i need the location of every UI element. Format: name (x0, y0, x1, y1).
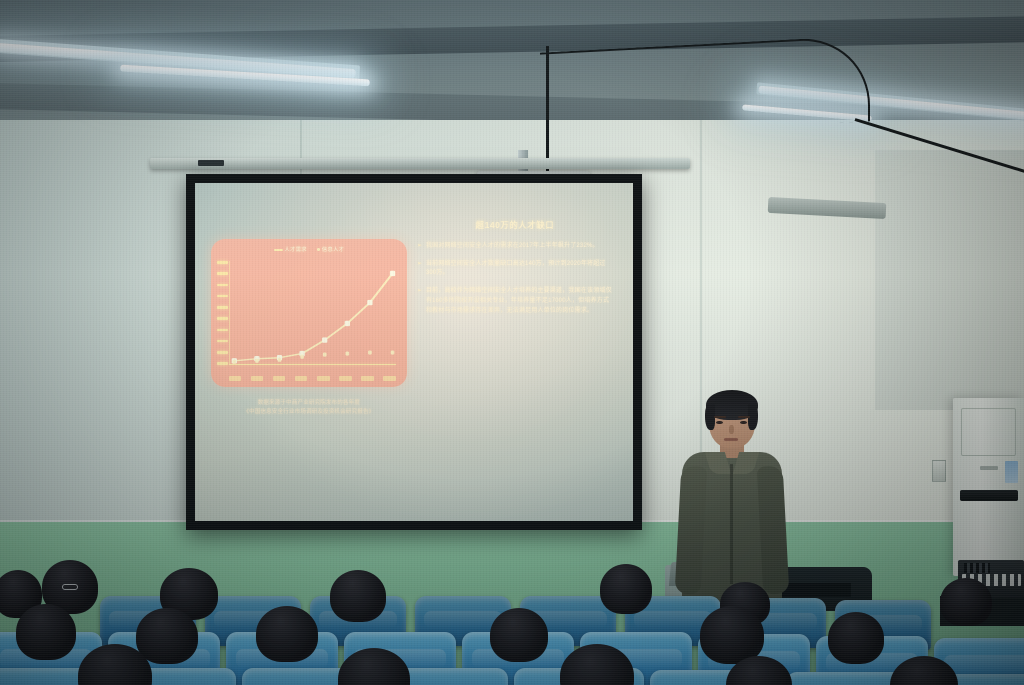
floor-air-conditioner (953, 398, 1024, 576)
slide-text-column: 超140万的人才缺口 ➢ 我国对网络空间安全人才的需求在2017年上半年飙升了2… (407, 205, 619, 511)
chart-x-tick-label: 2015 (317, 376, 330, 381)
screen-bar-label (198, 160, 224, 166)
legend-swatch-dot-icon (317, 248, 320, 251)
chart-x-tick-label: 2013 (273, 376, 286, 381)
bullet-arrow-icon: ➢ (417, 287, 422, 316)
legend-item-demand: 人才需求 (274, 246, 307, 253)
chart-x-tick-label: 2018 (383, 376, 396, 381)
chart-series-canvas (231, 261, 396, 365)
chart-x-tick-label: 2016 (339, 376, 352, 381)
y-axis-tick (217, 306, 228, 309)
y-axis-tick (217, 261, 228, 264)
presentation-slide: 人才需求 信息人才 (195, 183, 633, 521)
side-wall-panel (875, 150, 1024, 410)
chart-x-tick-label: 2017 (361, 376, 374, 381)
audience (0, 556, 1024, 685)
lecture-hall-photo: 人才需求 信息人才 (0, 0, 1024, 685)
projection-screen: 人才需求 信息人才 (186, 174, 642, 530)
audience-head (136, 608, 198, 664)
chart-caption-line-2: 《中国信息安全行业市场调研及投资机会研究报告》 (243, 408, 374, 417)
screen-roller-bar (150, 158, 690, 169)
bullet-arrow-icon: ➢ (417, 242, 422, 252)
y-axis-tick (217, 340, 228, 343)
y-axis-tick (217, 362, 228, 365)
ac-brand-logo (980, 466, 998, 470)
ac-front-panel (961, 408, 1016, 456)
y-axis-tick (217, 284, 228, 287)
projection-screen-surface: 人才需求 信息人才 (195, 183, 633, 521)
slide-bullet-text: 目前，高校作为网络空间安全人才培养的主要渠道，我国在该领域仅有160多所院校开设… (426, 287, 613, 316)
audience-head (490, 608, 548, 662)
chart-line-demand (234, 273, 392, 360)
ceiling-cable (540, 35, 870, 138)
chart-x-tick-label: 2012 (251, 376, 264, 381)
slide-bullet: ➢ 我国对网络空间安全人才的需求在2017年上半年飙升了232%。 (417, 242, 613, 252)
presenter-nose (729, 425, 734, 434)
wall-control-box (932, 460, 946, 482)
legend-label-demand: 人才需求 (285, 246, 307, 253)
y-axis-tick (217, 329, 228, 332)
audience-head (828, 612, 884, 664)
bullet-arrow-icon: ➢ (417, 260, 422, 279)
line-chart: 人才需求 信息人才 (211, 239, 407, 387)
chart-x-tick-label: 2014 (295, 376, 308, 381)
ac-vent-grille (960, 490, 1018, 501)
slide-chart-column: 人才需求 信息人才 (211, 205, 407, 511)
chart-legend: 人才需求 信息人才 (211, 246, 407, 253)
chart-x-tick-label: 2011 (229, 376, 241, 381)
slide-bullet-text: 当前网络空间安全人才数量缺口高达140万，预计到2020年将超过300万。 (426, 260, 613, 279)
slide-bullet: ➢ 当前网络空间安全人才数量缺口高达140万，预计到2020年将超过300万。 (417, 260, 613, 279)
slide-title: 超140万的人才缺口 (417, 219, 613, 231)
chart-x-axis-labels: 20112012201320142015201620172018 (229, 376, 396, 381)
audience-glasses (62, 584, 78, 590)
presenter-mouth (724, 438, 738, 441)
chart-source-caption: 数据来源于中商产业研究院发布的各年度 《中国信息安全行业市场调研及投资机会研究报… (243, 399, 374, 417)
audience-head (600, 564, 652, 614)
chart-plot-area: 20112012201320142015201620172018 (231, 261, 396, 365)
audience-head (940, 578, 992, 626)
slide-bullet-text: 我国对网络空间安全人才的需求在2017年上半年飙升了232%。 (426, 242, 599, 252)
chart-markers-demand (232, 271, 396, 364)
chart-caption-line-1: 数据来源于中商产业研究院发布的各年度 (243, 399, 374, 408)
legend-item-supply: 信息人才 (317, 246, 344, 253)
y-axis-tick (217, 272, 228, 275)
audience-head (330, 570, 386, 622)
audience-head (256, 606, 318, 662)
y-axis-tick (217, 317, 228, 320)
ac-display-badge (1005, 461, 1018, 483)
y-axis-tick (217, 351, 228, 354)
legend-swatch-line-icon (274, 249, 283, 251)
slide-bullet: ➢ 目前，高校作为网络空间安全人才培养的主要渠道，我国在该领域仅有160多所院校… (417, 287, 613, 316)
y-axis-tick (217, 295, 228, 298)
legend-label-supply: 信息人才 (322, 246, 344, 253)
audience-head (16, 604, 76, 660)
